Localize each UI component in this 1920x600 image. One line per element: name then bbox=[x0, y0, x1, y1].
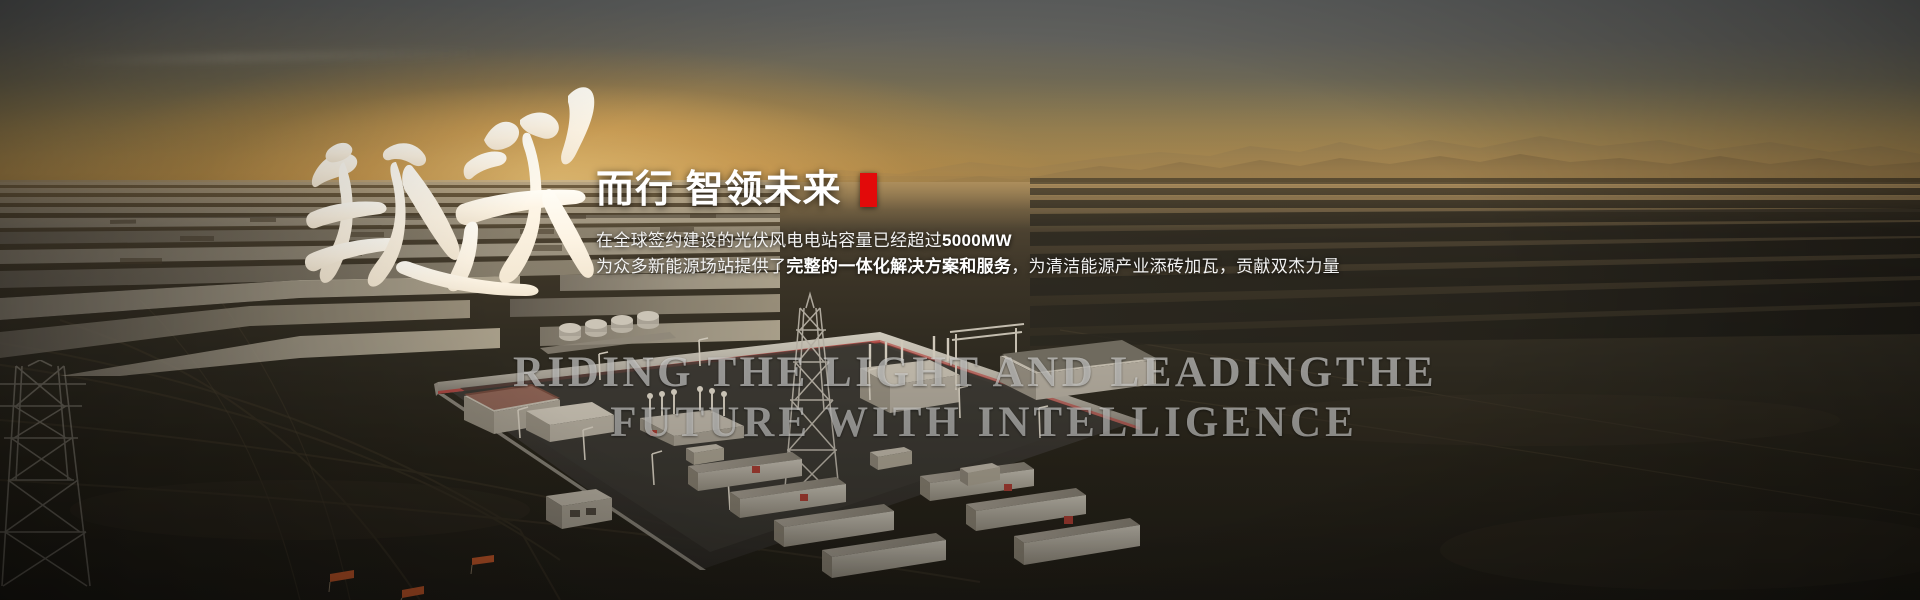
subtitle-2-prefix: 为众多新能源场站提供了 bbox=[596, 257, 786, 276]
subtitle-line-1: 在全球签约建设的光伏风电电站容量已经超过5000MW bbox=[596, 228, 1596, 254]
subtitle-2-strong: 完整的一体化解决方案和服务 bbox=[786, 257, 1011, 276]
headline: 而行 智领未来 bbox=[596, 166, 1596, 214]
headline-text: 而行 智领未来 bbox=[596, 168, 842, 212]
transmission-pylon bbox=[0, 360, 104, 590]
subtitle-1-prefix: 在全球签约建设的光伏风电电站容量已经超过 bbox=[596, 231, 942, 250]
subtitle-1-strong: 5000MW bbox=[942, 231, 1012, 250]
subtitle-line-2: 为众多新能源场站提供了完整的一体化解决方案和服务，为清洁能源产业添砖加瓦，贡献双… bbox=[596, 254, 1596, 280]
hero-banner: 而行 智领未来 在全球签约建设的光伏风电电站容量已经超过5000MW 为众多新能… bbox=[0, 0, 1920, 600]
red-block-mark bbox=[860, 173, 877, 207]
subtitle-2-suffix: ，为清洁能源产业添砖加瓦，贡献双杰力量 bbox=[1011, 257, 1340, 276]
ground-markers bbox=[150, 540, 550, 600]
hero-text-block: 而行 智领未来 在全球签约建设的光伏风电电站容量已经超过5000MW 为众多新能… bbox=[596, 166, 1596, 280]
